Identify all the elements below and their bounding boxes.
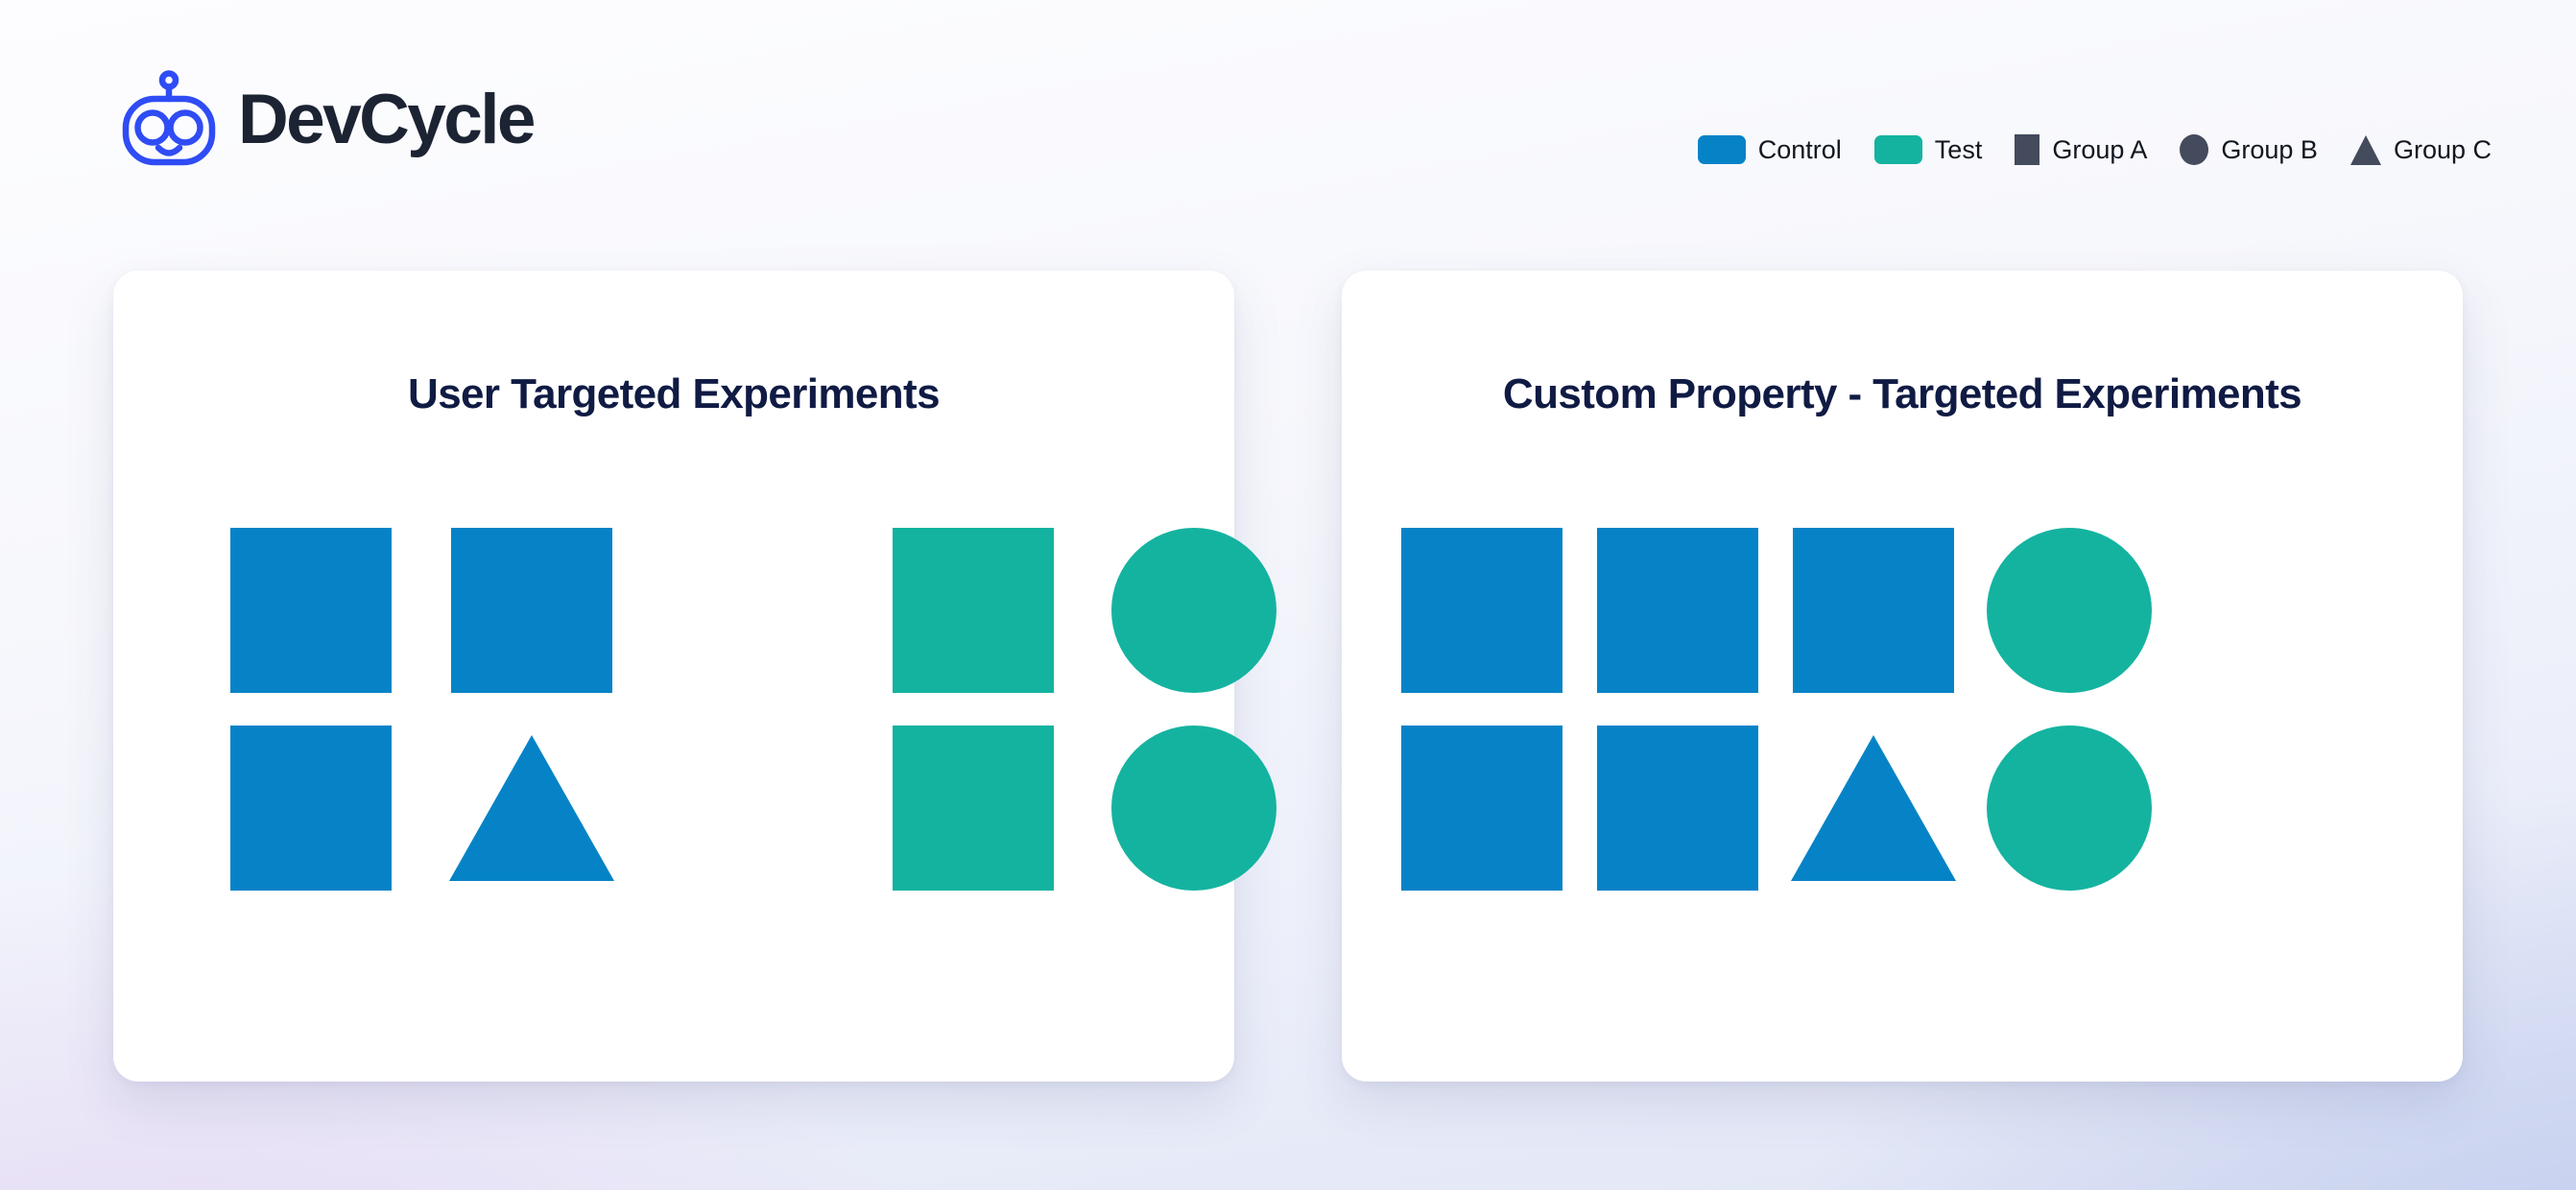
triangle-shape-icon bbox=[449, 735, 614, 881]
shape-row bbox=[113, 528, 1234, 693]
legend-item-group-b[interactable]: Group B bbox=[2180, 134, 2318, 165]
shape-cell[interactable] bbox=[1399, 528, 1564, 693]
square-shape-icon bbox=[230, 726, 392, 891]
legend-label-group-a: Group A bbox=[2052, 137, 2147, 163]
legend-label-group-c: Group C bbox=[2394, 137, 2492, 163]
square-shape-icon bbox=[1401, 726, 1562, 891]
shape-row bbox=[1342, 726, 2463, 891]
shape-cell-empty bbox=[670, 726, 835, 891]
shape-cell[interactable] bbox=[1987, 726, 2152, 891]
card-custom-property-targeted-experiments[interactable]: Custom Property - Targeted Experiments bbox=[1342, 271, 2463, 1082]
shape-cell[interactable] bbox=[1791, 726, 1956, 891]
rounded-rect-swatch-icon bbox=[1874, 135, 1922, 164]
brand-name: DevCycle bbox=[238, 84, 534, 155]
shape-cell[interactable] bbox=[1399, 726, 1564, 891]
shape-row bbox=[1342, 528, 2463, 693]
brand-logo[interactable]: DevCycle bbox=[119, 69, 534, 169]
shape-grid bbox=[1342, 528, 2463, 891]
legend-label-test: Test bbox=[1935, 137, 1983, 163]
legend-item-control[interactable]: Control bbox=[1698, 135, 1842, 164]
square-shape-icon bbox=[893, 528, 1054, 693]
triangle-swatch-icon bbox=[2350, 135, 2381, 165]
devcycle-robot-logo-icon bbox=[119, 69, 219, 169]
shape-cell[interactable] bbox=[891, 726, 1056, 891]
legend-item-group-a[interactable]: Group A bbox=[2015, 134, 2147, 165]
shape-cell[interactable] bbox=[449, 528, 614, 693]
circle-swatch-icon bbox=[2180, 134, 2208, 165]
card-title: User Targeted Experiments bbox=[113, 373, 1234, 416]
legend: Control Test Group A Group B Group C bbox=[1698, 134, 2492, 165]
shape-cell[interactable] bbox=[1791, 528, 1956, 693]
square-swatch-icon bbox=[2015, 134, 2039, 165]
circle-shape-icon bbox=[1987, 726, 2152, 891]
shape-cell[interactable] bbox=[891, 528, 1056, 693]
shape-cell[interactable] bbox=[1595, 726, 1760, 891]
square-shape-icon bbox=[230, 528, 392, 693]
shape-cell[interactable] bbox=[1111, 528, 1276, 693]
square-shape-icon bbox=[1597, 726, 1758, 891]
shape-cell[interactable] bbox=[228, 726, 394, 891]
rounded-rect-swatch-icon bbox=[1698, 135, 1746, 164]
page-root: DevCycle Control Test Group A Group B bbox=[0, 0, 2576, 1190]
square-shape-icon bbox=[1401, 528, 1562, 693]
shape-cell[interactable] bbox=[1987, 528, 2152, 693]
shape-cell[interactable] bbox=[1595, 528, 1760, 693]
shape-cell-empty bbox=[670, 528, 835, 693]
legend-item-group-c[interactable]: Group C bbox=[2350, 135, 2492, 165]
shape-cell[interactable] bbox=[1111, 726, 1276, 891]
circle-shape-icon bbox=[1111, 726, 1276, 891]
legend-item-test[interactable]: Test bbox=[1874, 135, 1983, 164]
circle-shape-icon bbox=[1987, 528, 2152, 693]
square-shape-icon bbox=[893, 726, 1054, 891]
legend-label-group-b: Group B bbox=[2221, 137, 2318, 163]
card-user-targeted-experiments[interactable]: User Targeted Experiments bbox=[113, 271, 1234, 1082]
shape-cell[interactable] bbox=[449, 726, 614, 891]
shape-cell[interactable] bbox=[228, 528, 394, 693]
experiment-cards: User Targeted Experiments Custom Propert… bbox=[0, 271, 2576, 1082]
shape-row bbox=[113, 726, 1234, 891]
square-shape-icon bbox=[1597, 528, 1758, 693]
page-header: DevCycle Control Test Group A Group B bbox=[0, 0, 2576, 271]
shape-grid bbox=[113, 528, 1234, 891]
square-shape-icon bbox=[1793, 528, 1954, 693]
triangle-shape-icon bbox=[1791, 735, 1956, 881]
legend-label-control: Control bbox=[1758, 137, 1842, 163]
card-title: Custom Property - Targeted Experiments bbox=[1342, 373, 2463, 416]
square-shape-icon bbox=[451, 528, 612, 693]
circle-shape-icon bbox=[1111, 528, 1276, 693]
